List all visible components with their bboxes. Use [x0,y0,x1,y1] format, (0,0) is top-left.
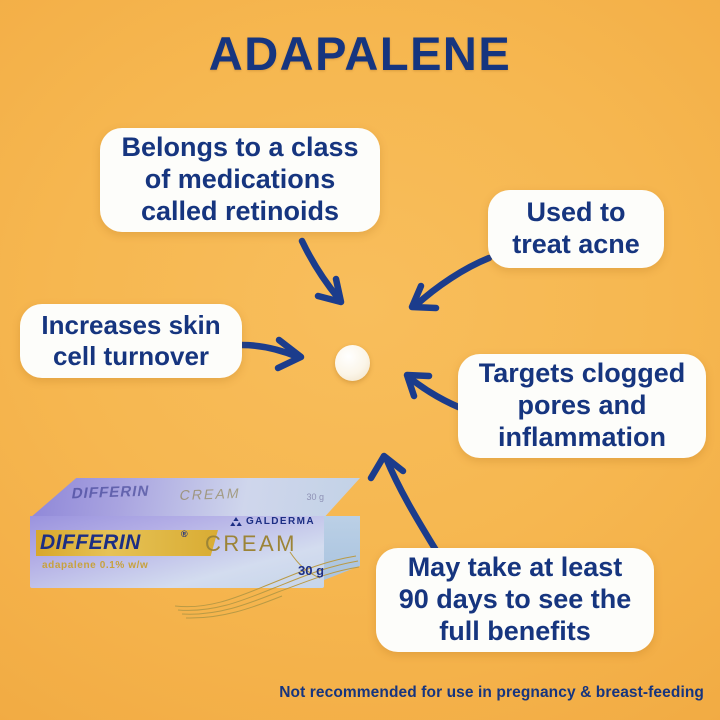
callout-line: May take at least [408,552,623,584]
carton-top-weight: 30 g [306,492,324,502]
pill-icon [335,345,370,381]
callout-line: Increases skin [41,310,220,341]
product-brand-name: DIFFERIN [40,530,141,556]
galderma-wordmark: GALDERMA [246,516,315,527]
callout-line: Belongs to a class [121,132,358,164]
callout-may-take-90-days: May take at least 90 days to see the ful… [376,548,654,652]
product-strength-label: adapalene 0.1% w/w [42,560,148,571]
product-form-label: CREAM [205,531,297,557]
callout-line: pores and [517,390,646,422]
arrow-from-duration-box [371,456,437,552]
carton-front-face: DIFFERIN ® CREAM adapalene 0.1% w/w GALD… [30,516,324,588]
callout-line: Used to [526,197,625,229]
product-net-weight: 30 g [298,563,324,578]
registered-trademark-icon: ® [181,529,188,539]
callout-targets-clogged-pores: Targets clogged pores and inflammation [458,354,706,458]
callout-belongs-to-class: Belongs to a class of medications called… [100,128,380,232]
callout-used-to-treat-acne: Used to treat acne [488,190,664,268]
callout-line: called retinoids [141,196,339,228]
callout-line: 90 days to see the [399,584,632,616]
arrow-from-acne-box [412,258,489,308]
arrow-from-turnover-box [242,340,301,368]
galderma-triangles-icon [230,517,242,527]
callout-line: inflammation [498,422,666,454]
callout-line: Targets clogged [479,358,686,390]
infographic-canvas: ADAPALENE Belongs to a clas [0,0,720,720]
callout-line: treat acne [512,229,640,261]
callout-increases-cell-turnover: Increases skin cell turnover [20,304,242,378]
pregnancy-warning-note: Not recommended for use in pregnancy & b… [279,684,704,702]
callout-line: full benefits [439,616,591,648]
carton-side-face [324,516,360,580]
carton-top-brand: DIFFERIN [70,483,151,503]
product-carton: DIFFERIN CREAM 30 g DIFFERIN ® CREAM ada… [30,478,360,588]
callout-line: of medications [145,164,336,196]
arrow-from-class-box [302,241,341,302]
carton-top-form: CREAM [178,485,242,503]
callout-line: cell turnover [53,341,209,372]
galderma-logo: GALDERMA [230,516,315,527]
page-title: ADAPALENE [0,26,720,81]
